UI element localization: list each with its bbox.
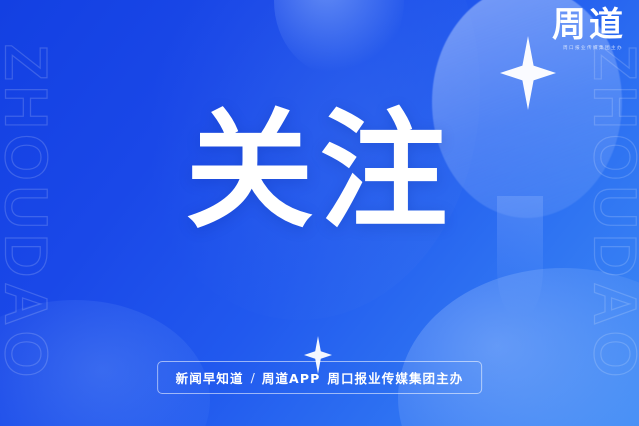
promo-poster: ZHOUDAO ZHOUDAO 周 道 周口报业传媒集团主办 关注 新闻早知道 …	[0, 0, 639, 426]
brand-logo-char-zhou: 周	[552, 8, 586, 42]
banner-publisher: 周口报业传媒集团主办	[327, 368, 463, 387]
brand-logo-mark: 周 道	[552, 8, 623, 42]
background-top-circle	[274, 0, 404, 76]
brand-logo: 周 道 周口报业传媒集团主办	[552, 8, 623, 51]
banner-app-name: 周道APP	[262, 368, 321, 387]
banner-slogan: 新闻早知道	[176, 368, 244, 387]
sparkle-icon-top-right	[500, 36, 556, 110]
headline-text: 关注	[0, 108, 639, 236]
bottom-banner: 新闻早知道 / 周道APP 周口报业传媒集团主办	[157, 361, 483, 394]
brand-logo-char-dao: 道	[589, 8, 623, 42]
brand-logo-subtitle: 周口报业传媒集团主办	[552, 45, 623, 51]
banner-separator: /	[251, 370, 255, 385]
